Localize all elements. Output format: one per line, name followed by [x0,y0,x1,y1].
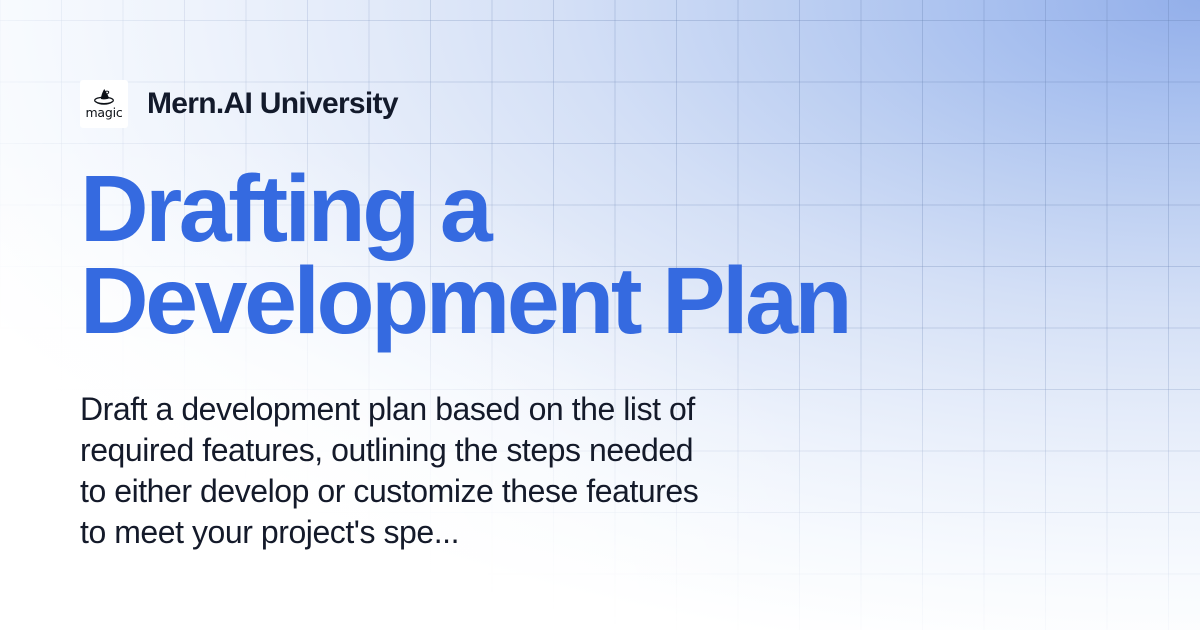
page-title: Drafting a Development Plan [80,163,980,347]
magic-logo-badge: magic [80,80,128,128]
social-share-card: magic Mern.AI University Drafting a Deve… [0,0,1200,630]
brand-name: Mern.AI University [147,87,398,121]
page-description: Draft a development plan based on the li… [80,389,880,553]
magic-wordmark: magic [85,107,122,120]
wizard-hat-icon [93,88,115,106]
brand-row: magic Mern.AI University [80,80,398,128]
card-content: magic Mern.AI University Drafting a Deve… [80,0,1120,630]
